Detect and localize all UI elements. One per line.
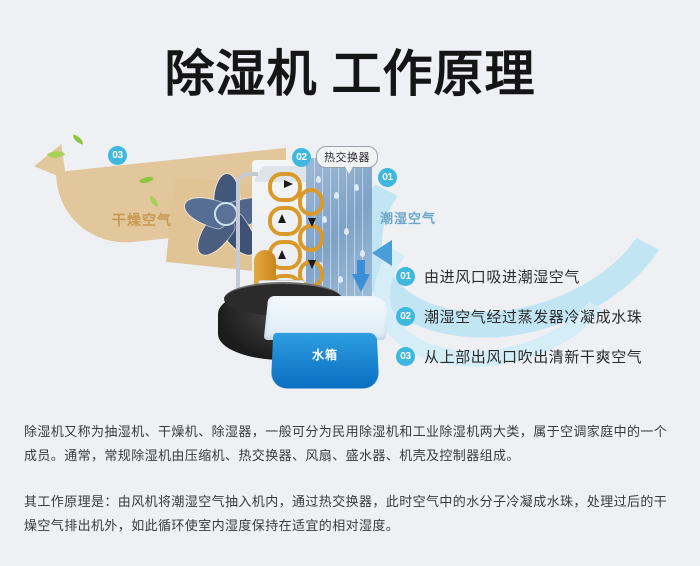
page-title-part-b: 工作原理 bbox=[332, 46, 536, 102]
step-text-02: 潮湿空气经过蒸发器冷凝成水珠 bbox=[424, 306, 642, 327]
list-item: 02 潮湿空气经过蒸发器冷凝成水珠 bbox=[396, 296, 686, 336]
step-text-03: 从上部出风口吹出清新干爽空气 bbox=[424, 346, 642, 367]
description-text: 除湿机又称为抽湿机、干燥机、除湿器，一般可分为民用除湿机和工业除湿机两大类，属于… bbox=[24, 420, 680, 560]
step-badge-03: 03 bbox=[396, 347, 415, 366]
page-title-part-a: 除湿机 bbox=[165, 46, 318, 102]
page-root: 除湿机工作原理 干燥空气 bbox=[0, 0, 700, 566]
process-steps-legend: 01 由进风口吸进潮湿空气 02 潮湿空气经过蒸发器冷凝成水珠 03 从上部出风… bbox=[396, 256, 686, 376]
step-text-01: 由进风口吸进潮湿空气 bbox=[424, 266, 580, 287]
diagram-badge-02: 02 bbox=[292, 148, 311, 167]
step-badge-01: 01 bbox=[396, 267, 415, 286]
page-title: 除湿机工作原理 bbox=[0, 34, 700, 106]
humid-air-intake-arrow-icon bbox=[372, 240, 392, 266]
leaf-icon bbox=[71, 134, 85, 144]
list-item: 01 由进风口吸进潮湿空气 bbox=[396, 256, 686, 296]
list-item: 03 从上部出风口吹出清新干爽空气 bbox=[396, 336, 686, 376]
airflow-down-arrow-icon bbox=[352, 274, 370, 292]
dry-air-label: 干燥空气 bbox=[112, 210, 172, 230]
diagram-badge-01: 01 bbox=[378, 168, 397, 187]
paragraph-2: 其工作原理是：由风机将潮湿空气抽入机内，通过热交换器，此时空气中的水分子冷凝成水… bbox=[24, 490, 680, 538]
callout-tail-icon bbox=[344, 165, 354, 174]
step-badge-02: 02 bbox=[396, 307, 415, 326]
fan-hub bbox=[214, 202, 238, 226]
water-tank-label: 水箱 bbox=[312, 346, 338, 363]
paragraph-1: 除湿机又称为抽湿机、干燥机、除湿器，一般可分为民用除湿机和工业除湿机两大类，属于… bbox=[24, 420, 680, 468]
humid-air-label: 潮湿空气 bbox=[380, 208, 436, 227]
diagram-badge-03: 03 bbox=[108, 146, 127, 165]
dry-air-arrow-head-icon bbox=[32, 144, 67, 184]
